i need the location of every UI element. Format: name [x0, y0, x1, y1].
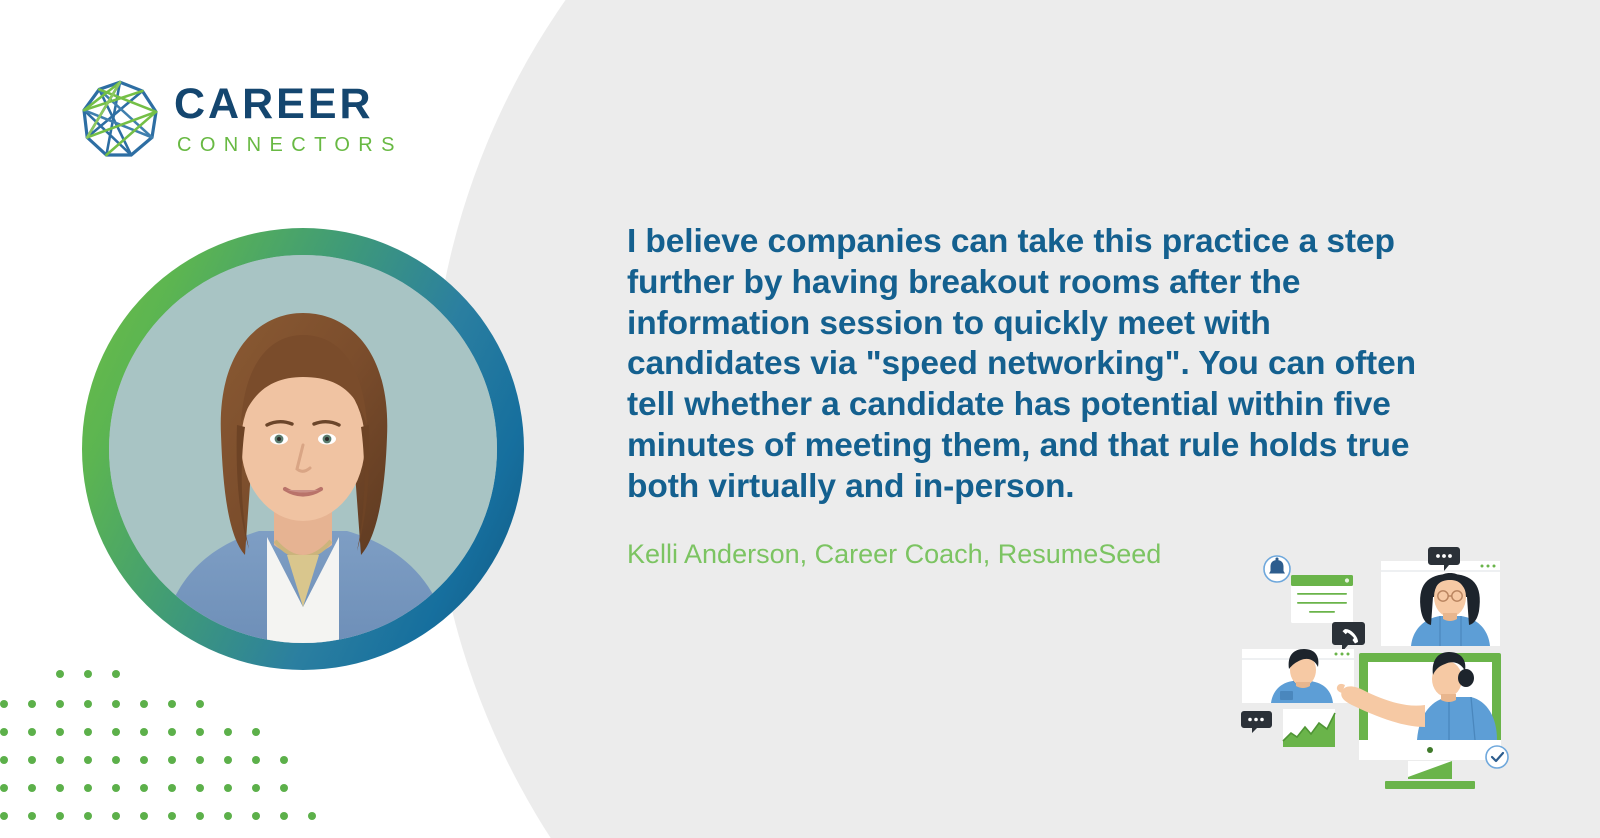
quote-text: I believe companies can take this practi…: [627, 222, 1427, 508]
check-badge-icon: [1486, 746, 1508, 768]
participant-window-man: [1242, 649, 1354, 703]
avatar: [109, 255, 497, 643]
quote-attribution: Kelli Anderson, Career Coach, ResumeSeed: [627, 538, 1427, 570]
decorative-dot-grid: [0, 668, 320, 838]
phone-chat-bubble-icon: [1332, 622, 1365, 652]
brand-name-primary: CAREER: [174, 83, 403, 126]
document-card: [1291, 575, 1353, 623]
chart-card: [1283, 709, 1335, 747]
video-conference-illustration: [1235, 545, 1535, 800]
dots-chat-bubble-icon-bottom: [1241, 711, 1272, 733]
poster-canvas: CAREER CONNECTORS: [0, 0, 1600, 838]
portrait-photo: [109, 255, 497, 643]
quote-block: I believe companies can take this practi…: [627, 222, 1427, 570]
avatar-ring: [82, 228, 524, 670]
polygon-network-icon: [80, 78, 160, 160]
brand-name-secondary: CONNECTORS: [177, 135, 403, 155]
participant-window-woman: [1381, 561, 1500, 646]
monitor-presenter: [1337, 652, 1501, 789]
brand-logo[interactable]: CAREER CONNECTORS: [80, 78, 403, 160]
brand-wordmark: CAREER CONNECTORS: [174, 83, 403, 155]
